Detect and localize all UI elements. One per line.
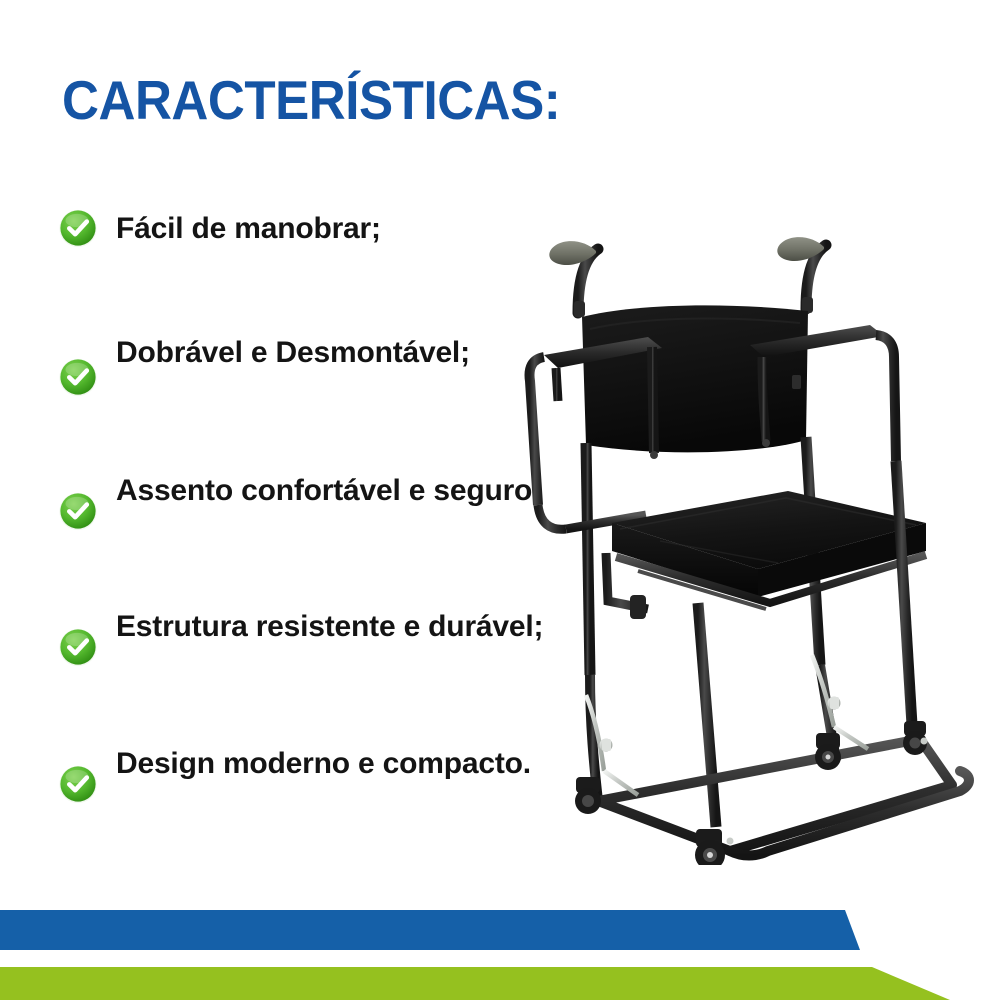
check-circle-icon bbox=[58, 627, 98, 667]
bottom-decoration bbox=[0, 890, 1000, 1000]
list-item: Fácil de manobrar; bbox=[58, 205, 381, 252]
blue-band bbox=[0, 910, 860, 950]
caster-wheel-front bbox=[695, 829, 725, 865]
seat-cushion bbox=[612, 491, 926, 597]
list-item-label: Design moderno e compacto. bbox=[116, 740, 531, 787]
push-handle-right bbox=[777, 237, 826, 313]
list-item-label: Fácil de manobrar; bbox=[116, 205, 381, 252]
check-circle-icon bbox=[58, 357, 98, 397]
base-frame bbox=[598, 739, 969, 856]
list-item: Dobrável e Desmontável; bbox=[58, 329, 470, 397]
list-item: Design moderno e compacto. bbox=[58, 740, 531, 804]
list-item: Estrutura resistente e durável; bbox=[58, 603, 543, 667]
list-item-label: Dobrável e Desmontável; bbox=[116, 329, 470, 376]
promo-card: CARACTERÍSTICAS: bbox=[0, 0, 1000, 1000]
check-circle-icon bbox=[58, 208, 98, 248]
caster-wheel-left bbox=[575, 777, 601, 814]
check-circle-icon bbox=[58, 491, 98, 531]
green-band bbox=[0, 967, 950, 1000]
list-item: Assento confortável e seguro; bbox=[58, 467, 542, 531]
wheelchair-photo bbox=[520, 205, 1000, 865]
push-handle-left bbox=[549, 241, 598, 317]
backrest-upholstery bbox=[582, 305, 808, 452]
page-title: CARACTERÍSTICAS: bbox=[62, 68, 560, 132]
list-item-label: Assento confortável e seguro; bbox=[116, 467, 542, 514]
check-circle-icon bbox=[58, 764, 98, 804]
list-item-label: Estrutura resistente e durável; bbox=[116, 603, 543, 650]
caster-wheel-right bbox=[815, 733, 841, 770]
